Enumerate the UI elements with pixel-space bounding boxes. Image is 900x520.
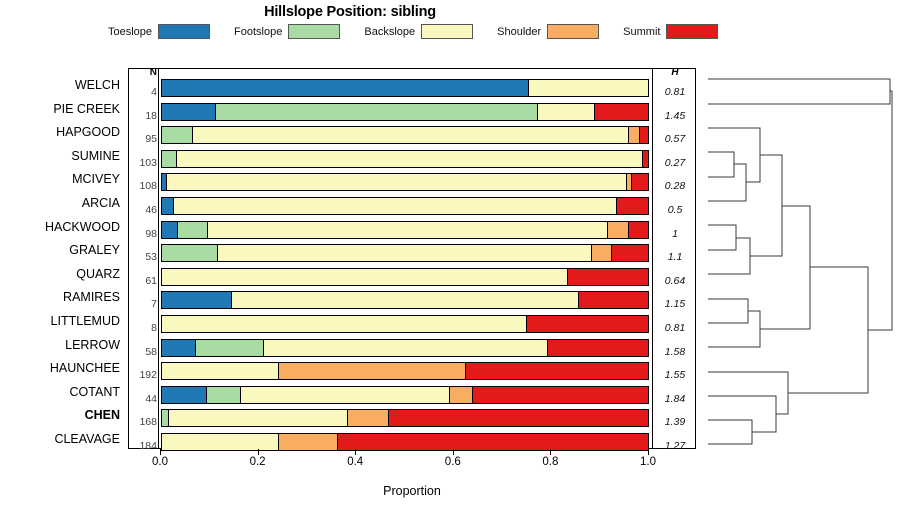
table-row: 531.1 bbox=[129, 242, 695, 264]
table-row: 610.64 bbox=[129, 266, 695, 288]
y-axis-label-lerrow: LERROW bbox=[65, 334, 120, 356]
dendro-link-n1-arcia bbox=[708, 164, 746, 201]
legend-label-shoulder: Shoulder bbox=[497, 26, 541, 38]
bar-segment-footslope[interactable] bbox=[162, 151, 177, 167]
stacked-bar[interactable] bbox=[161, 103, 649, 121]
x-axis-tick-label: 0.2 bbox=[250, 456, 266, 468]
bar-segment-summit[interactable] bbox=[632, 174, 648, 190]
y-axis-label-arcia: ARCIA bbox=[82, 192, 120, 214]
dendrogram-svg bbox=[700, 62, 898, 454]
table-row: 460.5 bbox=[129, 195, 695, 217]
bar-segment-backslope[interactable] bbox=[241, 387, 450, 403]
bar-segment-footslope[interactable] bbox=[162, 127, 193, 143]
legend-swatch-backslope bbox=[421, 24, 473, 39]
x-axis-tick bbox=[550, 449, 551, 455]
y-axis-label-haunchee: HAUNCHEE bbox=[50, 357, 120, 379]
stacked-bar[interactable] bbox=[161, 150, 649, 168]
stacked-bar[interactable] bbox=[161, 386, 649, 404]
y-axis-label-littlemud: LITTLEMUD bbox=[51, 310, 120, 332]
bar-segment-shoulder[interactable] bbox=[348, 410, 389, 426]
bar-segment-toeslope[interactable] bbox=[162, 292, 232, 308]
bar-segment-summit[interactable] bbox=[568, 269, 648, 285]
stacked-bar[interactable] bbox=[161, 79, 649, 97]
bar-segment-toeslope[interactable] bbox=[162, 340, 196, 356]
bar-segment-backslope[interactable] bbox=[162, 269, 568, 285]
bar-segment-footslope[interactable] bbox=[207, 387, 241, 403]
bar-segment-backslope[interactable] bbox=[177, 151, 643, 167]
stacked-bar[interactable] bbox=[161, 362, 649, 380]
bar-segment-footslope[interactable] bbox=[216, 104, 538, 120]
table-row: 71.15 bbox=[129, 289, 695, 311]
bar-segment-summit[interactable] bbox=[338, 434, 648, 450]
bar-segment-summit[interactable] bbox=[643, 151, 648, 167]
x-axis-tick bbox=[355, 449, 356, 455]
dendro-link-hackwood-graley bbox=[708, 225, 736, 250]
y-axis-labels: WELCHPIE CREEKHAPGOODSUMINEMCIVEYARCIAHA… bbox=[0, 68, 126, 449]
x-axis-tick-label: 0.0 bbox=[152, 456, 168, 468]
table-row: 1681.39 bbox=[129, 407, 695, 429]
table-row: 581.58 bbox=[129, 337, 695, 359]
y-axis-label-pie-creek: PIE CREEK bbox=[53, 98, 120, 120]
table-row: 441.84 bbox=[129, 384, 695, 406]
x-axis-tick bbox=[453, 449, 454, 455]
bar-segment-footslope[interactable] bbox=[178, 222, 208, 238]
y-axis-label-welch: WELCH bbox=[75, 74, 120, 96]
bar-segment-backslope[interactable] bbox=[538, 104, 595, 120]
stacked-bar[interactable] bbox=[161, 409, 649, 427]
stacked-bar[interactable] bbox=[161, 268, 649, 286]
stacked-bar[interactable] bbox=[161, 126, 649, 144]
legend: Toeslope Footslope Backslope Shoulder Su… bbox=[108, 24, 668, 39]
table-row: 40.81 bbox=[129, 77, 695, 99]
x-axis-tick-label: 0.6 bbox=[445, 456, 461, 468]
bar-segment-summit[interactable] bbox=[473, 387, 648, 403]
bar-segment-summit[interactable] bbox=[527, 316, 648, 332]
bar-segment-backslope[interactable] bbox=[529, 80, 648, 96]
x-axis-tick bbox=[648, 449, 649, 455]
dendro-link-n4-quarz bbox=[708, 238, 750, 274]
legend-label-summit: Summit bbox=[623, 26, 660, 38]
stacked-bar[interactable] bbox=[161, 291, 649, 309]
bar-segment-footslope[interactable] bbox=[196, 340, 264, 356]
bar-segment-summit[interactable] bbox=[640, 127, 648, 143]
legend-swatch-shoulder bbox=[547, 24, 599, 39]
x-axis-tick-label: 0.4 bbox=[347, 456, 363, 468]
y-axis-label-ramires: RAMIRES bbox=[63, 286, 120, 308]
bar-segment-shoulder[interactable] bbox=[592, 245, 611, 261]
legend-swatch-footslope bbox=[288, 24, 340, 39]
x-axis-tick-label: 1.0 bbox=[640, 456, 656, 468]
bar-segment-backslope[interactable] bbox=[162, 434, 279, 450]
stacked-bar[interactable] bbox=[161, 173, 649, 191]
bar-segment-backslope[interactable] bbox=[232, 292, 579, 308]
bar-segment-shoulder[interactable] bbox=[450, 387, 473, 403]
bar-segment-backslope[interactable] bbox=[193, 127, 629, 143]
bar-segment-toeslope[interactable] bbox=[162, 222, 178, 238]
bar-segment-backslope[interactable] bbox=[167, 174, 626, 190]
y-axis-label-cleavage: CLEAVAGE bbox=[54, 428, 120, 450]
legend-label-backslope: Backslope bbox=[364, 26, 415, 38]
x-axis: 0.00.20.40.60.81.0 bbox=[128, 449, 696, 479]
y-axis-label-sumine: SUMINE bbox=[71, 145, 120, 167]
y-axis-label-mcivey: MCIVEY bbox=[72, 168, 120, 190]
y-axis-label-graley: GRALEY bbox=[69, 239, 120, 261]
legend-item-summit[interactable]: Summit bbox=[623, 24, 718, 39]
bar-segment-backslope[interactable] bbox=[169, 410, 348, 426]
x-axis-title: Proportion bbox=[128, 484, 696, 498]
bar-segment-backslope[interactable] bbox=[174, 198, 617, 214]
table-row: 181.45 bbox=[129, 101, 695, 123]
legend-swatch-toeslope bbox=[158, 24, 210, 39]
bar-segment-summit[interactable] bbox=[629, 222, 648, 238]
bar-segment-summit[interactable] bbox=[612, 245, 648, 261]
bar-segment-shoulder[interactable] bbox=[279, 363, 466, 379]
dendro-link-ramires-littlemud bbox=[708, 299, 748, 323]
x-axis-tick bbox=[258, 449, 259, 455]
dendro-link-n6-n8 bbox=[760, 206, 810, 329]
dendro-link-n9-n12 bbox=[788, 267, 868, 393]
bar-segment-toeslope[interactable] bbox=[162, 104, 216, 120]
legend-item-backslope[interactable]: Backslope bbox=[364, 24, 473, 39]
y-axis-label-cotant: COTANT bbox=[70, 381, 120, 403]
bar-segment-summit[interactable] bbox=[389, 410, 648, 426]
y-axis-label-hapgood: HAPGOOD bbox=[56, 121, 120, 143]
y-axis-label-hackwood: HACKWOOD bbox=[45, 216, 120, 238]
legend-item-footslope[interactable]: Footslope bbox=[234, 24, 340, 39]
bar-segment-summit[interactable] bbox=[466, 363, 648, 379]
bar-segment-shoulder[interactable] bbox=[608, 222, 629, 238]
table-row: 1080.28 bbox=[129, 171, 695, 193]
bar-segment-backslope[interactable] bbox=[208, 222, 608, 238]
bar-segment-shoulder[interactable] bbox=[629, 127, 640, 143]
dendro-link-welch-piecreek bbox=[708, 79, 890, 104]
plot-panel: N H 40.81181.45950.571030.271080.28460.5… bbox=[128, 68, 696, 449]
table-row: 981 bbox=[129, 219, 695, 241]
legend-label-toeslope: Toeslope bbox=[108, 26, 152, 38]
bar-segment-toeslope[interactable] bbox=[162, 80, 529, 96]
table-row: 1921.55 bbox=[129, 360, 695, 382]
bar-segment-backslope[interactable] bbox=[162, 316, 527, 332]
bar-segment-backslope[interactable] bbox=[218, 245, 593, 261]
legend-item-toeslope[interactable]: Toeslope bbox=[108, 24, 210, 39]
dendro-link-chen-cleavage bbox=[708, 420, 752, 444]
dendro-link-cotant-n10 bbox=[708, 396, 776, 432]
page-title: Hillslope Position: sibling bbox=[0, 4, 700, 20]
stacked-bar[interactable] bbox=[161, 197, 649, 215]
table-row: 1030.27 bbox=[129, 148, 695, 170]
bar-segment-footslope[interactable] bbox=[162, 245, 218, 261]
dendro-link-n3-n5 bbox=[750, 155, 782, 256]
bar-segment-summit[interactable] bbox=[579, 292, 648, 308]
legend-label-footslope: Footslope bbox=[234, 26, 282, 38]
stacked-bar[interactable] bbox=[161, 315, 649, 333]
table-row: 950.57 bbox=[129, 124, 695, 146]
y-axis-label-quarz: QUARZ bbox=[76, 263, 120, 285]
bar-segment-toeslope[interactable] bbox=[162, 387, 207, 403]
bar-segment-toeslope[interactable] bbox=[162, 198, 174, 214]
stacked-bar[interactable] bbox=[161, 339, 649, 357]
dendro-link-n7-lerrow bbox=[708, 311, 760, 347]
x-axis-tick-label: 0.8 bbox=[542, 456, 558, 468]
y-axis-label-chen: CHEN bbox=[85, 404, 120, 426]
x-axis-tick bbox=[160, 449, 161, 455]
legend-item-shoulder[interactable]: Shoulder bbox=[497, 24, 599, 39]
legend-swatch-summit bbox=[666, 24, 718, 39]
table-row: 80.81 bbox=[129, 313, 695, 335]
stacked-bar[interactable] bbox=[161, 244, 649, 262]
bar-segment-summit[interactable] bbox=[595, 104, 648, 120]
bar-segment-summit[interactable] bbox=[617, 198, 648, 214]
dendro-link-root bbox=[868, 91, 892, 330]
bar-segment-backslope[interactable] bbox=[264, 340, 548, 356]
bar-segment-backslope[interactable] bbox=[162, 363, 279, 379]
dendro-link-sumine-mcivey bbox=[708, 152, 734, 177]
bar-segment-shoulder[interactable] bbox=[279, 434, 338, 450]
bar-segment-footslope[interactable] bbox=[162, 410, 169, 426]
dendrogram bbox=[700, 62, 898, 454]
bar-segment-summit[interactable] bbox=[548, 340, 648, 356]
stacked-bar[interactable] bbox=[161, 221, 649, 239]
